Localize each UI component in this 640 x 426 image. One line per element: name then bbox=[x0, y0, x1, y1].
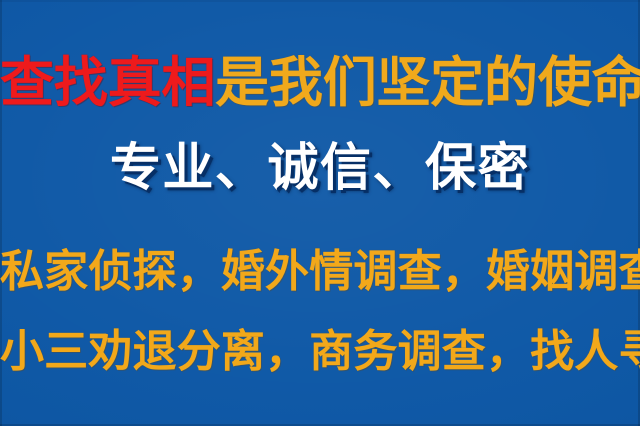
headline-red-segment: 查找真相 bbox=[0, 51, 215, 114]
core-values-text: 专业、诚信、保密 bbox=[0, 143, 640, 194]
services-line-one: 私家侦探，婚外情调查，婚姻调查， bbox=[0, 250, 640, 294]
services-line-two: 小三劝退分离，商务调查，找人寻人 bbox=[0, 330, 640, 374]
headline-gold-segment: 是我们坚定的使命 bbox=[215, 51, 640, 114]
headline-text: 查找真相是我们坚定的使命 bbox=[0, 56, 640, 110]
advertisement-banner: 查找真相是我们坚定的使命 专业、诚信、保密 私家侦探，婚外情调查，婚姻调查， 小… bbox=[0, 0, 640, 426]
